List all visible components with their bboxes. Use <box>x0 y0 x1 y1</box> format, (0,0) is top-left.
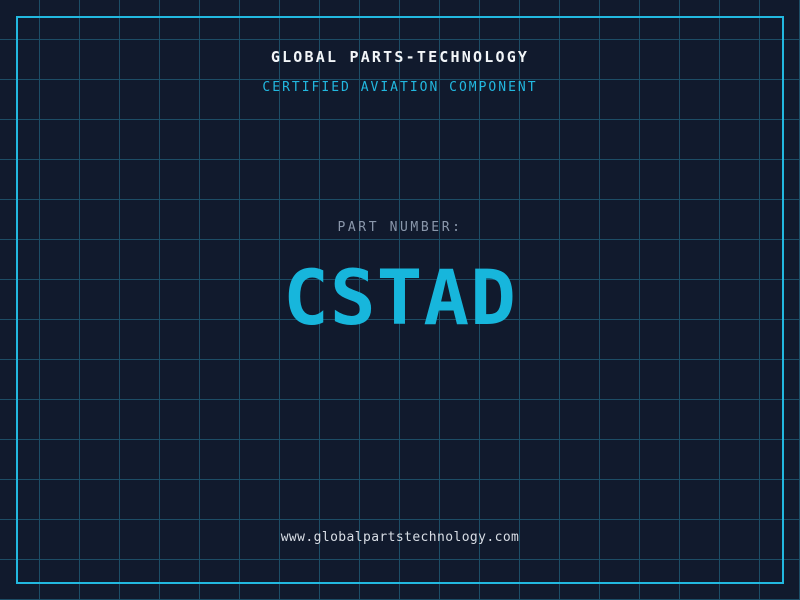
card-content: GLOBAL PARTS-TECHNOLOGY CERTIFIED AVIATI… <box>0 0 800 600</box>
part-number-label: PART NUMBER: <box>0 220 800 235</box>
footer-website-url: www.globalpartstechnology.com <box>0 530 800 545</box>
part-number-card: GLOBAL PARTS-TECHNOLOGY CERTIFIED AVIATI… <box>0 0 800 600</box>
company-title: GLOBAL PARTS-TECHNOLOGY <box>0 48 800 66</box>
certification-subtitle: CERTIFIED AVIATION COMPONENT <box>0 80 800 95</box>
part-number-value: CSTAD <box>0 258 800 338</box>
